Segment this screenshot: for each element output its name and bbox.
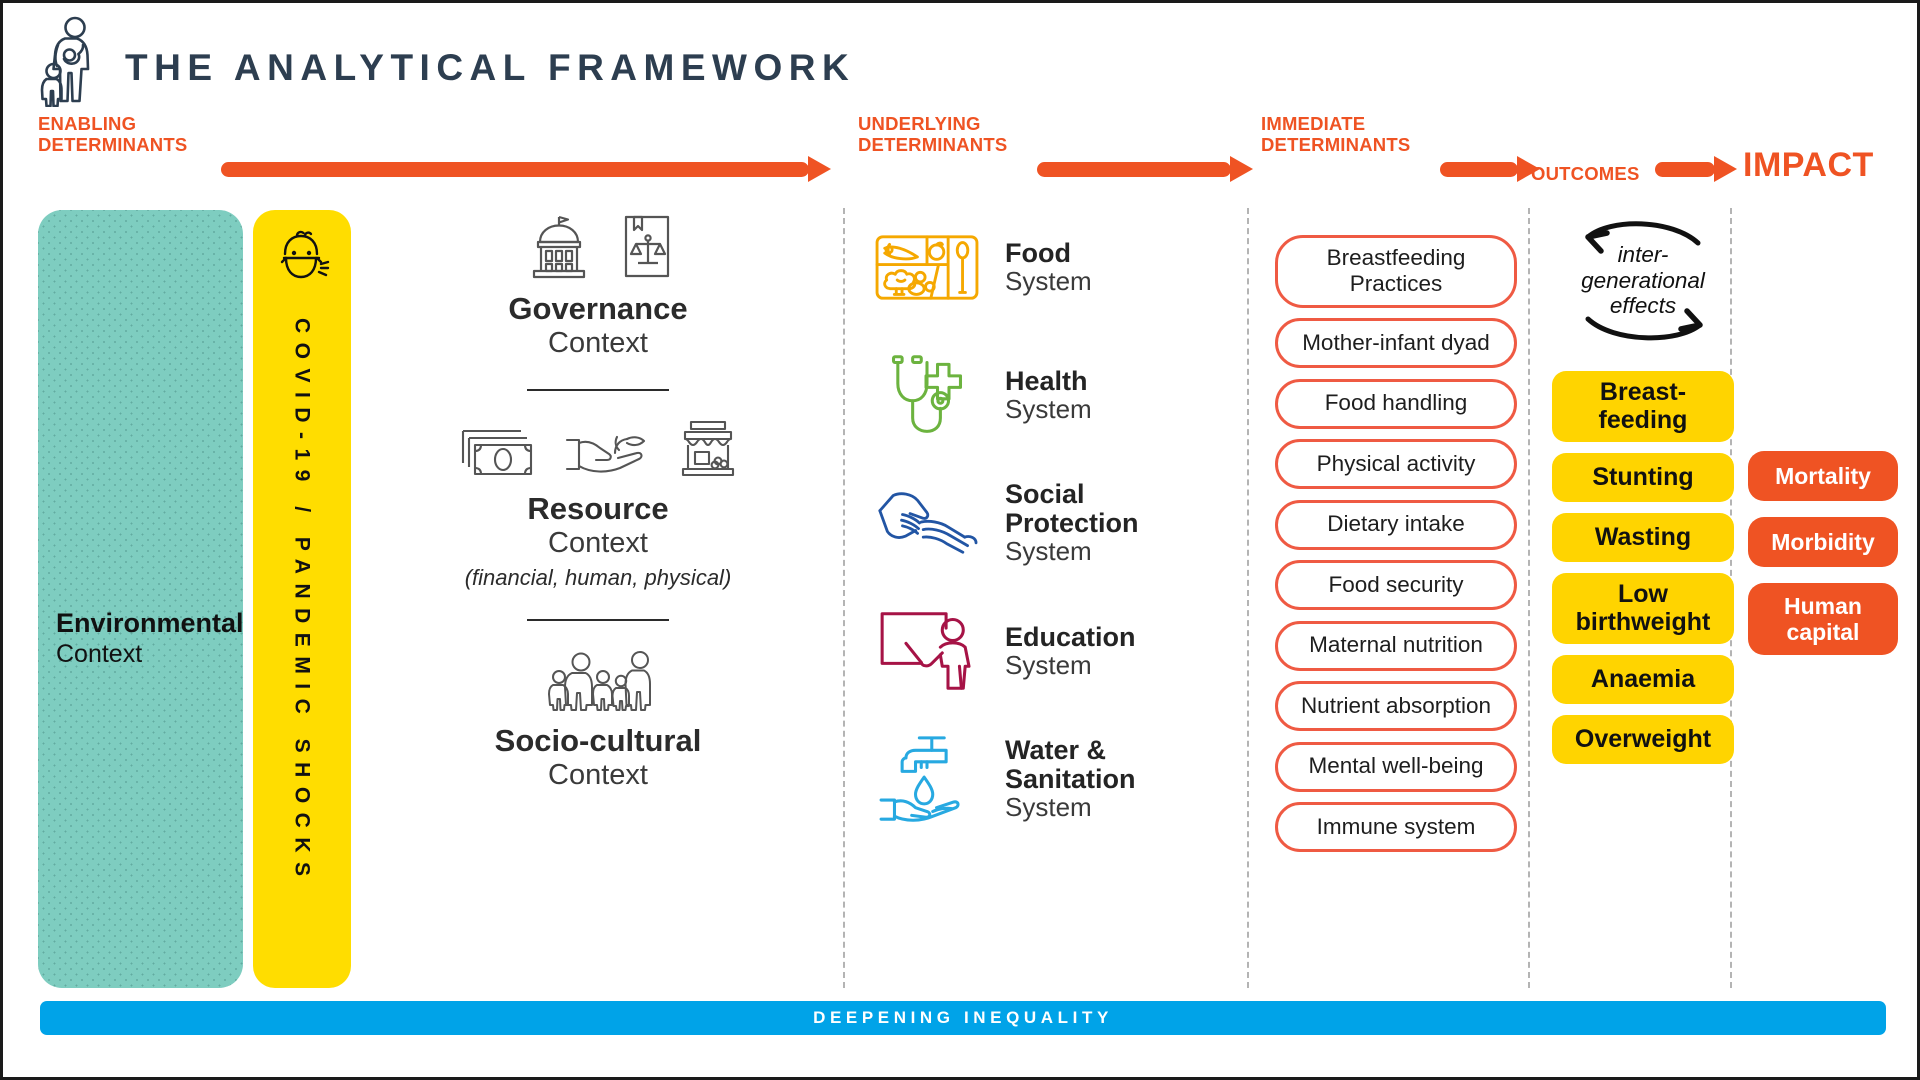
arrow-underlying-to-immediate — [1037, 156, 1253, 182]
context-divider-1 — [527, 389, 669, 391]
hand-with-seedling-icon — [563, 423, 651, 484]
outcome-pill[interactable]: Wasting — [1552, 513, 1734, 562]
scales-of-justice-document-icon — [618, 213, 674, 284]
impact-column: Mortality Morbidity Human capital — [1748, 451, 1898, 671]
arrow-immediate-to-outcomes — [1440, 156, 1540, 182]
determinant-pill[interactable]: Physical activity — [1275, 439, 1517, 489]
impact-pill[interactable]: Human capital — [1748, 583, 1898, 655]
outcome-pill[interactable]: Low birthweight — [1552, 573, 1734, 644]
dotted-texture — [38, 210, 243, 988]
determinant-pill[interactable]: Breastfeeding Practices — [1275, 235, 1517, 308]
band-label-impact: IMPACT — [1743, 146, 1874, 185]
outcome-pill[interactable]: Breast- feeding — [1552, 371, 1734, 442]
determinant-pill[interactable]: Nutrient absorption — [1275, 681, 1517, 731]
immediate-determinants-column: Breastfeeding Practices Mother-infant dy… — [1275, 235, 1517, 863]
impact-pill[interactable]: Mortality — [1748, 451, 1898, 501]
resource-subtitle: Context — [373, 526, 823, 561]
band-label-immediate: IMMEDIATE DETERMINANTS — [1261, 113, 1410, 155]
teacher-blackboard-icon — [871, 609, 983, 693]
outcome-pill[interactable]: Stunting — [1552, 453, 1734, 502]
system-label-food: Food System — [1005, 239, 1092, 296]
intergenerational-effects-group: inter- generational effects — [1552, 215, 1734, 347]
governance-title: Governance — [373, 292, 823, 326]
system-label-social-protection: Social Protection System — [1005, 480, 1139, 566]
contexts-column: Governance Context — [373, 213, 823, 793]
mother-with-child-icon — [31, 15, 117, 107]
sociocultural-subtitle: Context — [373, 758, 823, 793]
system-label-education: Education System — [1005, 623, 1136, 680]
page-title: THE ANALYTICAL FRAMEWORK — [125, 47, 855, 89]
environmental-title: Environmental — [56, 608, 243, 640]
masked-face-icon — [271, 228, 333, 290]
family-group-icon — [545, 649, 651, 716]
determinant-pill[interactable]: Food handling — [1275, 379, 1517, 429]
arrow-outcomes-to-impact — [1655, 156, 1737, 182]
food-tray-icon — [871, 231, 983, 304]
sociocultural-title: Socio-cultural — [373, 724, 823, 758]
governance-subtitle: Context — [373, 326, 823, 361]
deepening-inequality-bar: DEEPENING INEQUALITY — [40, 1001, 1886, 1035]
determinant-pill[interactable]: Mother-infant dyad — [1275, 318, 1517, 368]
stethoscope-cross-icon — [871, 351, 983, 439]
resource-note: (financial, human, physical) — [373, 565, 823, 591]
government-building-icon — [522, 213, 596, 284]
system-label-water-sanitation: Water & Sanitation System — [1005, 736, 1136, 822]
determinant-pill[interactable]: Food security — [1275, 560, 1517, 610]
band-label-outcomes: OUTCOMES — [1531, 163, 1640, 184]
outcomes-column: inter- generational effects Breast- feed… — [1552, 215, 1734, 775]
arrow-enabling-to-underlying — [221, 156, 831, 182]
column-divider-3 — [1528, 208, 1530, 988]
system-row-water-sanitation: Water & Sanitation System — [871, 727, 1211, 831]
band-label-underlying: UNDERLYING DETERMINANTS — [858, 113, 1007, 155]
resource-title: Resource — [373, 492, 823, 526]
helping-hands-icon — [871, 490, 983, 556]
covid-pandemic-shocks-panel: COVID-19 / PANDEMIC SHOCKS — [253, 210, 351, 988]
system-label-health: Health System — [1005, 367, 1092, 424]
system-row-social-protection: Social Protection System — [871, 471, 1211, 575]
system-row-health: Health System — [871, 343, 1211, 447]
environmental-subtitle: Context — [56, 640, 243, 669]
band-label-enabling: ENABLING DETERMINANTS — [38, 113, 187, 155]
outcome-pill[interactable]: Overweight — [1552, 715, 1734, 764]
system-row-food: Food System — [871, 215, 1211, 319]
environmental-context-label: Environmental Context — [38, 608, 243, 669]
resource-context-block: Resource Context (financial, human, phys… — [373, 419, 823, 591]
impact-pill[interactable]: Morbidity — [1748, 517, 1898, 567]
covid-label: COVID-19 / PANDEMIC SHOCKS — [253, 318, 351, 978]
environmental-context-panel: Environmental Context — [38, 210, 243, 988]
deepening-inequality-label: DEEPENING INEQUALITY — [813, 1008, 1113, 1028]
sociocultural-context-block: Socio-cultural Context — [373, 649, 823, 793]
context-divider-2 — [527, 619, 669, 621]
systems-column: Food System Health System — [871, 215, 1211, 855]
determinant-pill[interactable]: Maternal nutrition — [1275, 621, 1517, 671]
governance-context-block: Governance Context — [373, 213, 823, 361]
banknotes-icon — [457, 423, 537, 484]
determinant-pill[interactable]: Mental well-being — [1275, 742, 1517, 792]
determinant-pill[interactable]: Dietary intake — [1275, 500, 1517, 550]
column-divider-1 — [843, 208, 845, 988]
framework-diagram: THE ANALYTICAL FRAMEWORK ENABLING DETERM… — [0, 0, 1920, 1080]
column-divider-2 — [1247, 208, 1249, 988]
system-row-education: Education System — [871, 599, 1211, 703]
determinant-pill[interactable]: Immune system — [1275, 802, 1517, 852]
intergenerational-effects-label: inter- generational effects — [1552, 242, 1734, 319]
outcome-pill[interactable]: Anaemia — [1552, 655, 1734, 704]
market-stall-icon — [677, 419, 739, 484]
tap-water-hand-icon — [871, 735, 983, 823]
